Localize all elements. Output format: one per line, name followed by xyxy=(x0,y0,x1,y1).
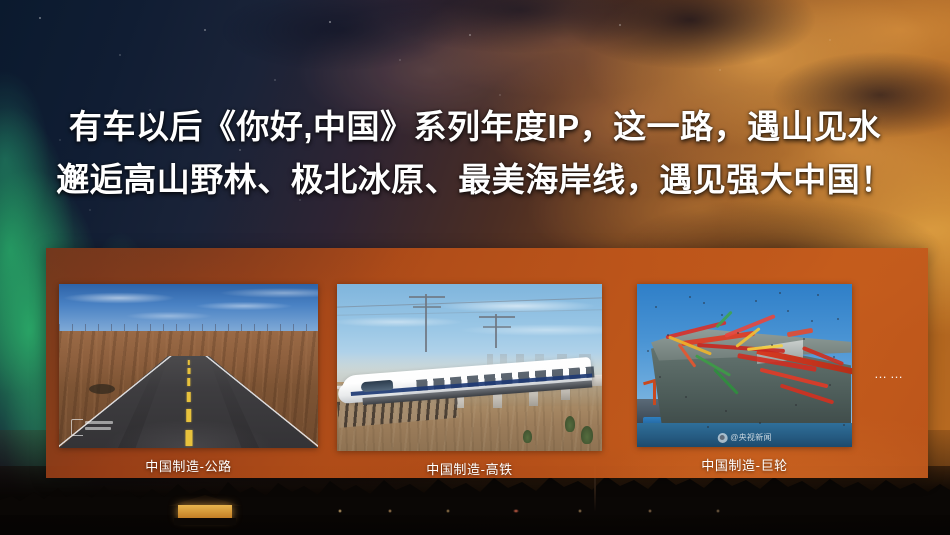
image-card-row: 中国制造-公路 xyxy=(46,248,928,478)
more-items-ellipsis: …… xyxy=(874,366,906,381)
ship-watermark: @央视新闻 xyxy=(717,432,772,443)
content-panel: 中国制造-公路 xyxy=(46,248,928,478)
thumbnail-high-speed-rail[interactable] xyxy=(337,284,602,451)
celebration-streamers xyxy=(637,284,852,447)
headline-line-1: 有车以后《你好,中国》系列年度IP，这一路，遇山见水 xyxy=(0,100,950,153)
lit-pavilion-silhouette-icon xyxy=(168,495,242,525)
catenary-mast-icon xyxy=(495,314,497,348)
highway-watermark-logo xyxy=(71,418,115,438)
distant-road-lights xyxy=(330,508,750,514)
card-high-speed-rail[interactable]: 中国制造-高铁 xyxy=(337,284,602,451)
weibo-icon xyxy=(717,433,727,443)
caption-high-speed-rail: 中国制造-高铁 xyxy=(426,459,513,478)
high-speed-train xyxy=(343,362,593,406)
card-highway[interactable]: 中国制造-公路 xyxy=(59,284,318,448)
rail-tree-icon xyxy=(581,426,593,444)
catenary-mast-icon xyxy=(425,294,427,352)
presentation-slide: 有车以后《你好,中国》系列年度IP，这一路，遇山见水 邂逅高山野林、极北冰原、最… xyxy=(0,0,950,535)
slide-headline: 有车以后《你好,中国》系列年度IP，这一路，遇山见水 邂逅高山野林、极北冰原、最… xyxy=(0,100,950,206)
caption-ship: 中国制造-巨轮 xyxy=(701,455,788,474)
thumbnail-highway[interactable] xyxy=(59,284,318,448)
rail-tree-icon xyxy=(523,430,532,443)
headline-line-2: 邂逅高山野林、极北冰原、最美海岸线，遇见强大中国！ xyxy=(0,153,950,206)
thumbnail-ship[interactable]: @央视新闻 xyxy=(637,284,852,447)
card-ship[interactable]: @央视新闻 中国制造-巨轮 xyxy=(637,284,852,447)
rail-tree-icon xyxy=(565,416,575,432)
caption-highway: 中国制造-公路 xyxy=(145,456,232,475)
ship-watermark-text: @央视新闻 xyxy=(730,432,772,443)
